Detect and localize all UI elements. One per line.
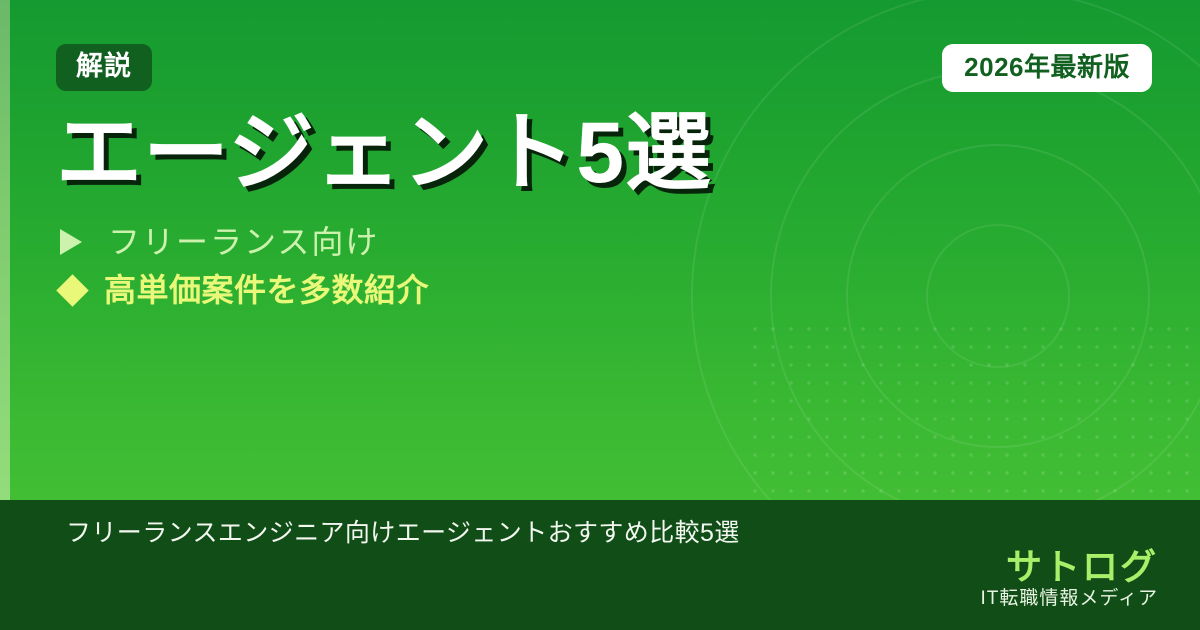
ogp-banner-card: 解説 2026年最新版 エージェント5選 フリーランス向け 高単価案件を多数紹介…	[0, 0, 1200, 630]
bullet-label: 高単価案件を多数紹介	[102, 274, 429, 306]
brand-logo: サトログ IT転職情報メディア	[980, 548, 1158, 611]
footer-caption: フリーランスエンジニア向けエージェントおすすめ比較5選	[66, 518, 740, 548]
category-badge: 解説	[56, 44, 152, 91]
year-badge: 2026年最新版	[942, 44, 1152, 92]
diamond-marker-icon	[60, 279, 102, 302]
list-item: フリーランス向け	[60, 218, 429, 266]
bullet-label: フリーランス向け	[102, 226, 379, 258]
page-title: エージェント5選	[56, 108, 712, 198]
brand-name: サトログ	[980, 548, 1158, 586]
bullet-list: フリーランス向け 高単価案件を多数紹介	[60, 218, 429, 314]
list-item: 高単価案件を多数紹介	[60, 266, 429, 314]
brand-tagline: IT転職情報メディア	[980, 586, 1158, 612]
triangle-marker-icon	[60, 229, 102, 255]
hero-content: 解説 2026年最新版 エージェント5選 フリーランス向け 高単価案件を多数紹介	[0, 0, 1200, 500]
